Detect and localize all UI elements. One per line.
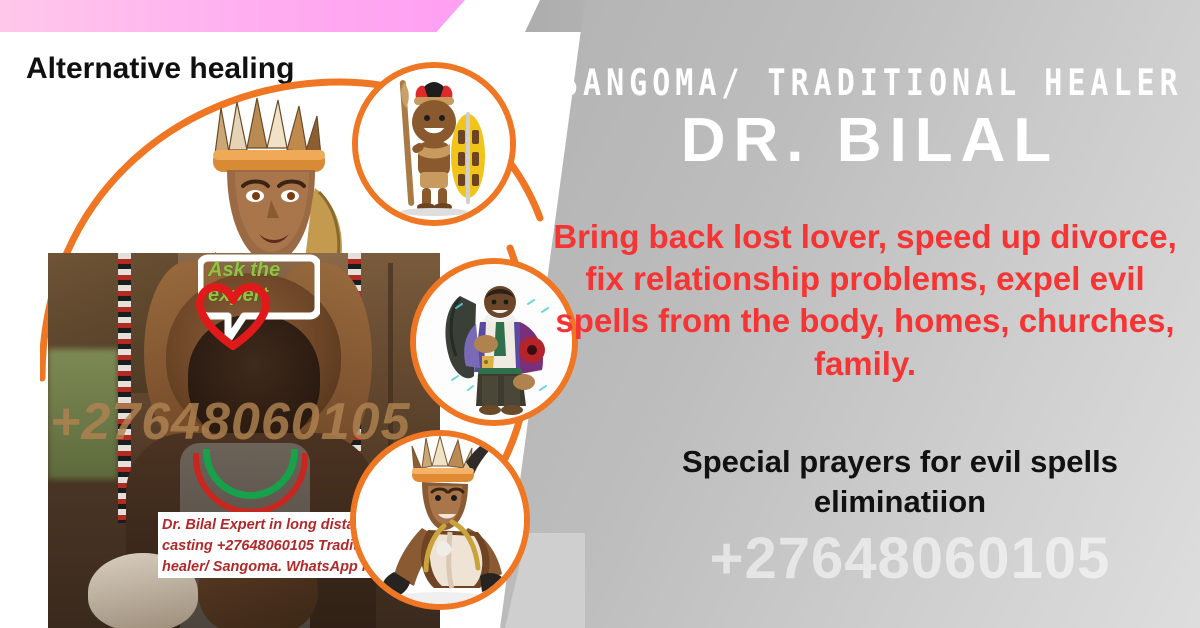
phone-watermark: +27648060105: [620, 525, 1200, 592]
zulu-warrior-icon: [358, 68, 510, 220]
kicker-headline: SANGOMA/ TRADITIONAL HEALER: [560, 62, 1180, 105]
special-offer-text: Special prayers for evil spells eliminat…: [610, 442, 1190, 523]
feather-headdress-figure-illustration: [175, 92, 355, 277]
services-text: Bring back lost lover, speed up divorce,…: [540, 216, 1190, 385]
feathered-dancer-icon: [356, 436, 524, 604]
eyebrow-title: Alternative healing: [26, 52, 294, 86]
circle-image-feathered-dancer: [350, 430, 530, 610]
heart-icon: [196, 283, 270, 351]
top-bar-pink: [0, 0, 465, 32]
doctor-name-headline: DR. BILAL: [560, 110, 1180, 172]
circle-image-zulu-warrior: [352, 62, 516, 226]
poster-canvas: Alternative healing: [0, 0, 1200, 628]
